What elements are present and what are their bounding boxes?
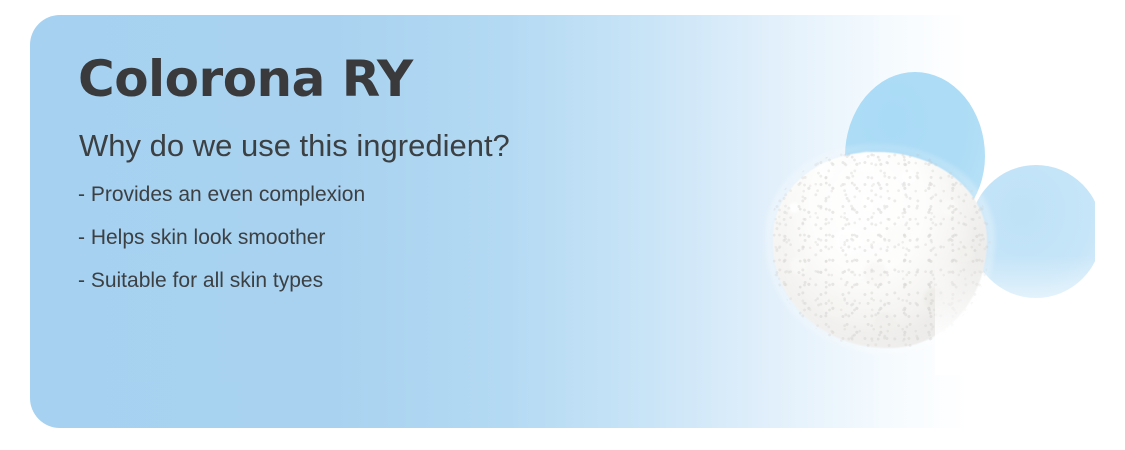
ingredient-banner-card: Colorona RY Why do we use this ingredien… bbox=[30, 15, 1095, 428]
list-item: - Provides an even complexion bbox=[78, 183, 718, 207]
benefits-list: - Provides an even complexion - Helps sk… bbox=[78, 183, 718, 293]
list-item: - Suitable for all skin types bbox=[78, 269, 718, 293]
page-title: Colorona RY bbox=[78, 53, 718, 105]
list-item: - Helps skin look smoother bbox=[78, 226, 718, 250]
product-powder-image bbox=[755, 140, 1005, 355]
subtitle-question: Why do we use this ingredient? bbox=[79, 129, 718, 163]
banner-canvas: Colorona RY Why do we use this ingredien… bbox=[0, 0, 1125, 450]
powder-edge-fade bbox=[765, 144, 995, 354]
banner-text-content: Colorona RY Why do we use this ingredien… bbox=[78, 53, 718, 294]
powder-pile-graphic bbox=[755, 140, 1005, 355]
